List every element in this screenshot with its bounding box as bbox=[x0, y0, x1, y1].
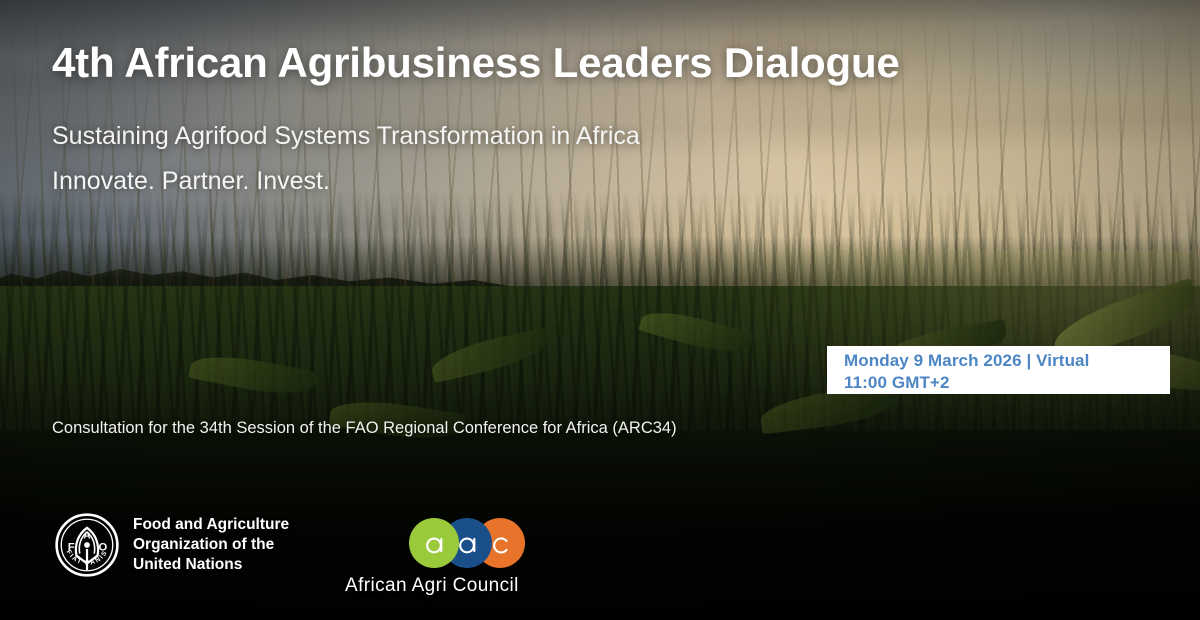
page-title: 4th African Agribusiness Leaders Dialogu… bbox=[52, 39, 900, 86]
aac-logo-text: African Agri Council bbox=[345, 575, 519, 597]
african-agri-council-logo: African Agri Council bbox=[345, 518, 519, 597]
event-banner: 4th African Agribusiness Leaders Dialogu… bbox=[0, 0, 1200, 620]
fao-name-line-3: United Nations bbox=[133, 555, 289, 575]
aac-circles bbox=[360, 518, 504, 568]
consultation-note: Consultation for the 34th Session of the… bbox=[52, 419, 677, 438]
fao-name-line-2: Organization of the bbox=[133, 535, 289, 555]
fao-logo: A F O FIAT PANIS Food and Agriculture Or… bbox=[54, 512, 289, 578]
subtitle-line-2: Innovate. Partner. Invest. bbox=[52, 166, 330, 197]
fao-name-line-1: Food and Agriculture bbox=[133, 515, 289, 535]
letter-a-icon bbox=[421, 530, 447, 556]
event-date-venue: Monday 9 March 2026 | Virtual bbox=[844, 350, 1170, 372]
svg-text:A: A bbox=[83, 530, 90, 541]
subtitle-line-1: Sustaining Agrifood Systems Transformati… bbox=[52, 121, 640, 152]
fao-emblem-icon: A F O FIAT PANIS bbox=[54, 512, 120, 578]
event-details-box: Monday 9 March 2026 | Virtual 11:00 GMT+… bbox=[827, 346, 1170, 394]
fao-logo-text: Food and Agriculture Organization of the… bbox=[133, 515, 289, 574]
aac-circle-green bbox=[409, 518, 459, 568]
event-time: 11:00 GMT+2 bbox=[844, 372, 1170, 394]
